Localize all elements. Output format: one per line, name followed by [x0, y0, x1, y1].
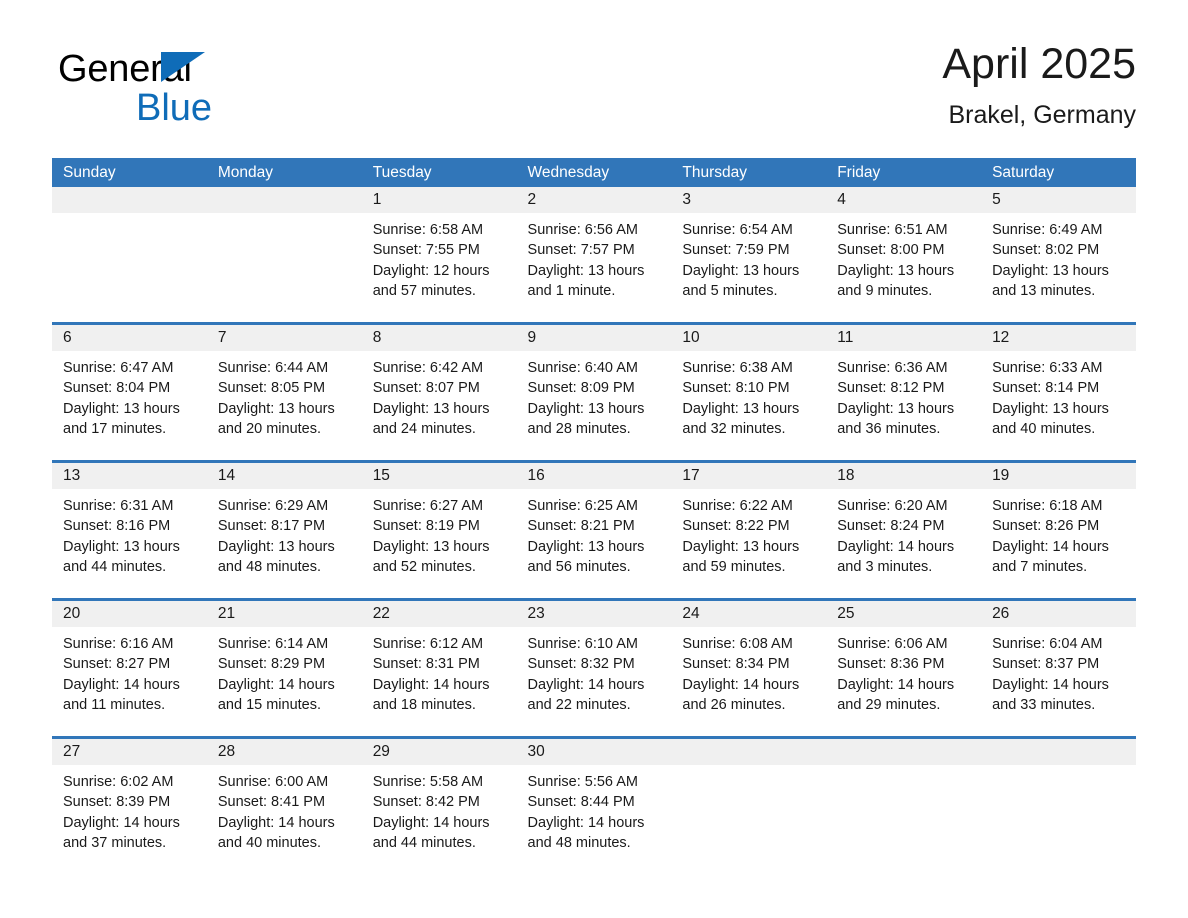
- sunrise-text: Sunrise: 6:12 AM: [373, 634, 506, 654]
- day-cell: 6Sunrise: 6:47 AMSunset: 8:04 PMDaylight…: [52, 325, 207, 460]
- sunrise-text: Sunrise: 6:04 AM: [992, 634, 1125, 654]
- sunrise-text: Sunrise: 6:58 AM: [373, 220, 506, 240]
- daylight-text-line1: Daylight: 14 hours: [528, 675, 661, 695]
- weekday-header-tuesday: Tuesday: [362, 158, 517, 187]
- sunrise-text: Sunrise: 6:38 AM: [682, 358, 815, 378]
- daylight-text-line2: and 29 minutes.: [837, 695, 970, 715]
- day-number: 25: [826, 601, 981, 627]
- sunrise-text: Sunrise: 6:54 AM: [682, 220, 815, 240]
- day-number: 1: [362, 187, 517, 213]
- daylight-text-line1: Daylight: 13 hours: [373, 537, 506, 557]
- calendar-day-cell[interactable]: 22Sunrise: 6:12 AMSunset: 8:31 PMDayligh…: [362, 601, 517, 736]
- sunrise-text: Sunrise: 6:44 AM: [218, 358, 351, 378]
- sunset-text: Sunset: 8:24 PM: [837, 516, 970, 536]
- day-info: Sunrise: 6:20 AMSunset: 8:24 PMDaylight:…: [826, 489, 981, 577]
- calendar-day-cell: [671, 739, 826, 859]
- day-number: 9: [517, 325, 672, 351]
- daylight-text-line2: and 3 minutes.: [837, 557, 970, 577]
- day-info: Sunrise: 6:06 AMSunset: 8:36 PMDaylight:…: [826, 627, 981, 715]
- sunset-text: Sunset: 8:16 PM: [63, 516, 196, 536]
- daylight-text-line2: and 17 minutes.: [63, 419, 196, 439]
- daylight-text-line1: Daylight: 14 hours: [218, 813, 351, 833]
- sunrise-text: Sunrise: 6:25 AM: [528, 496, 661, 516]
- day-info: Sunrise: 6:33 AMSunset: 8:14 PMDaylight:…: [981, 351, 1136, 439]
- sunrise-text: Sunrise: 6:42 AM: [373, 358, 506, 378]
- calendar-day-cell[interactable]: 8Sunrise: 6:42 AMSunset: 8:07 PMDaylight…: [362, 325, 517, 460]
- day-cell: 22Sunrise: 6:12 AMSunset: 8:31 PMDayligh…: [362, 601, 517, 736]
- day-info: Sunrise: 6:10 AMSunset: 8:32 PMDaylight:…: [517, 627, 672, 715]
- day-number: 6: [52, 325, 207, 351]
- daylight-text-line2: and 57 minutes.: [373, 281, 506, 301]
- daylight-text-line1: Daylight: 13 hours: [992, 261, 1125, 281]
- calendar-day-cell[interactable]: 25Sunrise: 6:06 AMSunset: 8:36 PMDayligh…: [826, 601, 981, 736]
- brand-triangle-icon: [161, 52, 205, 82]
- day-number: 5: [981, 187, 1136, 213]
- day-cell: 30Sunrise: 5:56 AMSunset: 8:44 PMDayligh…: [517, 739, 672, 859]
- daylight-text-line1: Daylight: 14 hours: [373, 675, 506, 695]
- sunrise-text: Sunrise: 6:51 AM: [837, 220, 970, 240]
- weekday-header-thursday: Thursday: [671, 158, 826, 187]
- day-info: Sunrise: 6:44 AMSunset: 8:05 PMDaylight:…: [207, 351, 362, 439]
- calendar-day-cell[interactable]: 20Sunrise: 6:16 AMSunset: 8:27 PMDayligh…: [52, 601, 207, 736]
- sunset-text: Sunset: 8:36 PM: [837, 654, 970, 674]
- sunset-text: Sunset: 8:00 PM: [837, 240, 970, 260]
- sunset-text: Sunset: 8:42 PM: [373, 792, 506, 812]
- weekday-header-friday: Friday: [826, 158, 981, 187]
- daylight-text-line1: Daylight: 14 hours: [528, 813, 661, 833]
- calendar-day-cell[interactable]: 7Sunrise: 6:44 AMSunset: 8:05 PMDaylight…: [207, 325, 362, 460]
- weekday-header-monday: Monday: [207, 158, 362, 187]
- daylight-text-line1: Daylight: 13 hours: [218, 537, 351, 557]
- day-number: [671, 739, 826, 765]
- calendar-week-row: 20Sunrise: 6:16 AMSunset: 8:27 PMDayligh…: [52, 601, 1136, 736]
- sunrise-text: Sunrise: 6:16 AM: [63, 634, 196, 654]
- daylight-text-line2: and 48 minutes.: [528, 833, 661, 853]
- sunrise-text: Sunrise: 6:40 AM: [528, 358, 661, 378]
- calendar-week-row: 6Sunrise: 6:47 AMSunset: 8:04 PMDaylight…: [52, 325, 1136, 460]
- daylight-text-line1: Daylight: 13 hours: [837, 399, 970, 419]
- day-number: 11: [826, 325, 981, 351]
- day-number: 19: [981, 463, 1136, 489]
- daylight-text-line2: and 26 minutes.: [682, 695, 815, 715]
- sunset-text: Sunset: 8:19 PM: [373, 516, 506, 536]
- day-info: Sunrise: 6:04 AMSunset: 8:37 PMDaylight:…: [981, 627, 1136, 715]
- weekday-header-sunday: Sunday: [52, 158, 207, 187]
- sunset-text: Sunset: 8:31 PM: [373, 654, 506, 674]
- sunrise-text: Sunrise: 6:14 AM: [218, 634, 351, 654]
- calendar-day-cell[interactable]: 6Sunrise: 6:47 AMSunset: 8:04 PMDaylight…: [52, 325, 207, 460]
- sunset-text: Sunset: 8:41 PM: [218, 792, 351, 812]
- daylight-text-line1: Daylight: 13 hours: [837, 261, 970, 281]
- calendar-page: General Blue April 2025 Brakel, Germany …: [0, 0, 1188, 918]
- calendar-day-cell: [981, 739, 1136, 859]
- day-cell: 11Sunrise: 6:36 AMSunset: 8:12 PMDayligh…: [826, 325, 981, 460]
- day-number: 20: [52, 601, 207, 627]
- sunrise-text: Sunrise: 6:47 AM: [63, 358, 196, 378]
- daylight-text-line2: and 56 minutes.: [528, 557, 661, 577]
- daylight-text-line2: and 32 minutes.: [682, 419, 815, 439]
- day-cell-empty: [52, 187, 207, 322]
- calendar-table: Sunday Monday Tuesday Wednesday Thursday…: [52, 158, 1136, 859]
- daylight-text-line1: Daylight: 13 hours: [528, 261, 661, 281]
- calendar-day-cell[interactable]: 10Sunrise: 6:38 AMSunset: 8:10 PMDayligh…: [671, 325, 826, 460]
- daylight-text-line2: and 13 minutes.: [992, 281, 1125, 301]
- calendar-day-cell: [826, 739, 981, 859]
- day-number: 2: [517, 187, 672, 213]
- calendar-day-cell[interactable]: 21Sunrise: 6:14 AMSunset: 8:29 PMDayligh…: [207, 601, 362, 736]
- brand-line-general: General: [58, 50, 358, 90]
- day-number: 10: [671, 325, 826, 351]
- day-number: [981, 739, 1136, 765]
- day-info: Sunrise: 6:56 AMSunset: 7:57 PMDaylight:…: [517, 213, 672, 301]
- sunset-text: Sunset: 7:59 PM: [682, 240, 815, 260]
- day-number: 7: [207, 325, 362, 351]
- day-number: 26: [981, 601, 1136, 627]
- calendar-day-cell[interactable]: 12Sunrise: 6:33 AMSunset: 8:14 PMDayligh…: [981, 325, 1136, 460]
- weekday-header-saturday: Saturday: [981, 158, 1136, 187]
- day-number: 16: [517, 463, 672, 489]
- calendar-week-row: 27Sunrise: 6:02 AMSunset: 8:39 PMDayligh…: [52, 739, 1136, 859]
- day-cell: 9Sunrise: 6:40 AMSunset: 8:09 PMDaylight…: [517, 325, 672, 460]
- calendar-day-cell[interactable]: 1Sunrise: 6:58 AMSunset: 7:55 PMDaylight…: [362, 187, 517, 322]
- daylight-text-line2: and 40 minutes.: [218, 833, 351, 853]
- daylight-text-line2: and 37 minutes.: [63, 833, 196, 853]
- day-cell: 21Sunrise: 6:14 AMSunset: 8:29 PMDayligh…: [207, 601, 362, 736]
- sunrise-text: Sunrise: 6:31 AM: [63, 496, 196, 516]
- day-number: 14: [207, 463, 362, 489]
- sunrise-text: Sunrise: 6:29 AM: [218, 496, 351, 516]
- daylight-text-line1: Daylight: 13 hours: [63, 537, 196, 557]
- day-number: 28: [207, 739, 362, 765]
- daylight-text-line1: Daylight: 12 hours: [373, 261, 506, 281]
- day-info: Sunrise: 6:02 AMSunset: 8:39 PMDaylight:…: [52, 765, 207, 853]
- daylight-text-line1: Daylight: 13 hours: [528, 399, 661, 419]
- sunrise-text: Sunrise: 6:22 AM: [682, 496, 815, 516]
- sunset-text: Sunset: 8:14 PM: [992, 378, 1125, 398]
- sunrise-text: Sunrise: 5:58 AM: [373, 772, 506, 792]
- daylight-text-line2: and 52 minutes.: [373, 557, 506, 577]
- sunrise-text: Sunrise: 6:10 AM: [528, 634, 661, 654]
- day-cell: 18Sunrise: 6:20 AMSunset: 8:24 PMDayligh…: [826, 463, 981, 598]
- day-info: Sunrise: 6:47 AMSunset: 8:04 PMDaylight:…: [52, 351, 207, 439]
- day-cell: 19Sunrise: 6:18 AMSunset: 8:26 PMDayligh…: [981, 463, 1136, 598]
- sunset-text: Sunset: 8:29 PM: [218, 654, 351, 674]
- day-number: 23: [517, 601, 672, 627]
- day-info: Sunrise: 6:18 AMSunset: 8:26 PMDaylight:…: [981, 489, 1136, 577]
- day-number: 18: [826, 463, 981, 489]
- day-number: [207, 187, 362, 213]
- calendar-day-cell[interactable]: 27Sunrise: 6:02 AMSunset: 8:39 PMDayligh…: [52, 739, 207, 859]
- daylight-text-line2: and 48 minutes.: [218, 557, 351, 577]
- day-cell: 1Sunrise: 6:58 AMSunset: 7:55 PMDaylight…: [362, 187, 517, 322]
- day-info: Sunrise: 6:54 AMSunset: 7:59 PMDaylight:…: [671, 213, 826, 301]
- sunset-text: Sunset: 8:26 PM: [992, 516, 1125, 536]
- day-cell: 20Sunrise: 6:16 AMSunset: 8:27 PMDayligh…: [52, 601, 207, 736]
- day-cell: 10Sunrise: 6:38 AMSunset: 8:10 PMDayligh…: [671, 325, 826, 460]
- day-cell: 29Sunrise: 5:58 AMSunset: 8:42 PMDayligh…: [362, 739, 517, 859]
- title-block: April 2025 Brakel, Germany: [942, 38, 1136, 132]
- day-cell: 5Sunrise: 6:49 AMSunset: 8:02 PMDaylight…: [981, 187, 1136, 322]
- day-info: Sunrise: 6:12 AMSunset: 8:31 PMDaylight:…: [362, 627, 517, 715]
- day-cell: 17Sunrise: 6:22 AMSunset: 8:22 PMDayligh…: [671, 463, 826, 598]
- sunset-text: Sunset: 8:07 PM: [373, 378, 506, 398]
- day-info: Sunrise: 6:25 AMSunset: 8:21 PMDaylight:…: [517, 489, 672, 577]
- daylight-text-line2: and 44 minutes.: [373, 833, 506, 853]
- daylight-text-line2: and 11 minutes.: [63, 695, 196, 715]
- sunset-text: Sunset: 8:32 PM: [528, 654, 661, 674]
- day-cell-empty: [981, 739, 1136, 859]
- daylight-text-line1: Daylight: 13 hours: [682, 399, 815, 419]
- calendar-day-cell[interactable]: 5Sunrise: 6:49 AMSunset: 8:02 PMDaylight…: [981, 187, 1136, 322]
- day-number: 17: [671, 463, 826, 489]
- sunrise-text: Sunrise: 6:56 AM: [528, 220, 661, 240]
- day-number: 27: [52, 739, 207, 765]
- day-number: 21: [207, 601, 362, 627]
- sunset-text: Sunset: 8:02 PM: [992, 240, 1125, 260]
- daylight-text-line1: Daylight: 14 hours: [218, 675, 351, 695]
- sunset-text: Sunset: 8:44 PM: [528, 792, 661, 812]
- sunrise-text: Sunrise: 6:06 AM: [837, 634, 970, 654]
- sunset-text: Sunset: 8:27 PM: [63, 654, 196, 674]
- daylight-text-line2: and 24 minutes.: [373, 419, 506, 439]
- day-cell: 23Sunrise: 6:10 AMSunset: 8:32 PMDayligh…: [517, 601, 672, 736]
- sunset-text: Sunset: 8:04 PM: [63, 378, 196, 398]
- day-number: [826, 739, 981, 765]
- day-info: Sunrise: 6:36 AMSunset: 8:12 PMDaylight:…: [826, 351, 981, 439]
- day-cell-empty: [207, 187, 362, 322]
- day-number: 3: [671, 187, 826, 213]
- daylight-text-line1: Daylight: 13 hours: [682, 537, 815, 557]
- day-number: 22: [362, 601, 517, 627]
- daylight-text-line2: and 7 minutes.: [992, 557, 1125, 577]
- sunset-text: Sunset: 8:09 PM: [528, 378, 661, 398]
- daylight-text-line2: and 9 minutes.: [837, 281, 970, 301]
- daylight-text-line1: Daylight: 14 hours: [63, 813, 196, 833]
- calendar-day-cell[interactable]: 28Sunrise: 6:00 AMSunset: 8:41 PMDayligh…: [207, 739, 362, 859]
- weekday-header-row: Sunday Monday Tuesday Wednesday Thursday…: [52, 158, 1136, 187]
- daylight-text-line1: Daylight: 14 hours: [992, 675, 1125, 695]
- day-info: Sunrise: 6:14 AMSunset: 8:29 PMDaylight:…: [207, 627, 362, 715]
- daylight-text-line2: and 33 minutes.: [992, 695, 1125, 715]
- calendar-day-cell[interactable]: 23Sunrise: 6:10 AMSunset: 8:32 PMDayligh…: [517, 601, 672, 736]
- calendar-day-cell[interactable]: 17Sunrise: 6:22 AMSunset: 8:22 PMDayligh…: [671, 463, 826, 598]
- calendar-day-cell[interactable]: 18Sunrise: 6:20 AMSunset: 8:24 PMDayligh…: [826, 463, 981, 598]
- calendar-day-cell[interactable]: 26Sunrise: 6:04 AMSunset: 8:37 PMDayligh…: [981, 601, 1136, 736]
- sunset-text: Sunset: 8:22 PM: [682, 516, 815, 536]
- sunrise-text: Sunrise: 6:18 AM: [992, 496, 1125, 516]
- daylight-text-line1: Daylight: 13 hours: [992, 399, 1125, 419]
- sunrise-text: Sunrise: 6:49 AM: [992, 220, 1125, 240]
- day-cell-empty: [671, 739, 826, 859]
- day-number: 4: [826, 187, 981, 213]
- brand-word-blue: Blue: [136, 88, 212, 128]
- daylight-text-line1: Daylight: 13 hours: [218, 399, 351, 419]
- calendar-day-cell[interactable]: 24Sunrise: 6:08 AMSunset: 8:34 PMDayligh…: [671, 601, 826, 736]
- daylight-text-line2: and 44 minutes.: [63, 557, 196, 577]
- day-cell: 14Sunrise: 6:29 AMSunset: 8:17 PMDayligh…: [207, 463, 362, 598]
- sunset-text: Sunset: 8:05 PM: [218, 378, 351, 398]
- daylight-text-line1: Daylight: 14 hours: [682, 675, 815, 695]
- daylight-text-line1: Daylight: 13 hours: [373, 399, 506, 419]
- day-info: Sunrise: 6:00 AMSunset: 8:41 PMDaylight:…: [207, 765, 362, 853]
- day-cell: 24Sunrise: 6:08 AMSunset: 8:34 PMDayligh…: [671, 601, 826, 736]
- calendar-week-row: 13Sunrise: 6:31 AMSunset: 8:16 PMDayligh…: [52, 463, 1136, 598]
- calendar-day-cell[interactable]: 16Sunrise: 6:25 AMSunset: 8:21 PMDayligh…: [517, 463, 672, 598]
- day-info: Sunrise: 6:58 AMSunset: 7:55 PMDaylight:…: [362, 213, 517, 301]
- daylight-text-line2: and 36 minutes.: [837, 419, 970, 439]
- day-cell: 27Sunrise: 6:02 AMSunset: 8:39 PMDayligh…: [52, 739, 207, 859]
- daylight-text-line1: Daylight: 14 hours: [837, 537, 970, 557]
- calendar-week-row: 1Sunrise: 6:58 AMSunset: 7:55 PMDaylight…: [52, 187, 1136, 322]
- day-info: Sunrise: 6:42 AMSunset: 8:07 PMDaylight:…: [362, 351, 517, 439]
- calendar-day-cell[interactable]: 15Sunrise: 6:27 AMSunset: 8:19 PMDayligh…: [362, 463, 517, 598]
- day-cell: 12Sunrise: 6:33 AMSunset: 8:14 PMDayligh…: [981, 325, 1136, 460]
- sunrise-text: Sunrise: 6:27 AM: [373, 496, 506, 516]
- calendar-day-cell: [207, 187, 362, 322]
- sunrise-text: Sunrise: 6:36 AM: [837, 358, 970, 378]
- day-number: 13: [52, 463, 207, 489]
- day-number: 30: [517, 739, 672, 765]
- sunrise-text: Sunrise: 6:00 AM: [218, 772, 351, 792]
- daylight-text-line2: and 22 minutes.: [528, 695, 661, 715]
- day-cell: 26Sunrise: 6:04 AMSunset: 8:37 PMDayligh…: [981, 601, 1136, 736]
- day-number: 15: [362, 463, 517, 489]
- day-info: Sunrise: 6:29 AMSunset: 8:17 PMDaylight:…: [207, 489, 362, 577]
- sunrise-text: Sunrise: 6:08 AM: [682, 634, 815, 654]
- daylight-text-line2: and 59 minutes.: [682, 557, 815, 577]
- daylight-text-line1: Daylight: 13 hours: [63, 399, 196, 419]
- daylight-text-line1: Daylight: 14 hours: [63, 675, 196, 695]
- daylight-text-line1: Daylight: 14 hours: [373, 813, 506, 833]
- page-header: General Blue April 2025 Brakel, Germany: [52, 38, 1136, 148]
- day-number: 29: [362, 739, 517, 765]
- sunrise-text: Sunrise: 6:02 AM: [63, 772, 196, 792]
- calendar-day-cell[interactable]: 19Sunrise: 6:18 AMSunset: 8:26 PMDayligh…: [981, 463, 1136, 598]
- day-number: 12: [981, 325, 1136, 351]
- daylight-text-line1: Daylight: 14 hours: [992, 537, 1125, 557]
- day-cell: 13Sunrise: 6:31 AMSunset: 8:16 PMDayligh…: [52, 463, 207, 598]
- daylight-text-line2: and 15 minutes.: [218, 695, 351, 715]
- day-cell: 15Sunrise: 6:27 AMSunset: 8:19 PMDayligh…: [362, 463, 517, 598]
- calendar-day-cell[interactable]: 9Sunrise: 6:40 AMSunset: 8:09 PMDaylight…: [517, 325, 672, 460]
- sunset-text: Sunset: 8:10 PM: [682, 378, 815, 398]
- day-info: Sunrise: 6:08 AMSunset: 8:34 PMDaylight:…: [671, 627, 826, 715]
- location-subtitle: Brakel, Germany: [942, 98, 1136, 132]
- day-info: Sunrise: 6:40 AMSunset: 8:09 PMDaylight:…: [517, 351, 672, 439]
- day-info: Sunrise: 6:27 AMSunset: 8:19 PMDaylight:…: [362, 489, 517, 577]
- day-info: Sunrise: 6:51 AMSunset: 8:00 PMDaylight:…: [826, 213, 981, 301]
- sunset-text: Sunset: 8:39 PM: [63, 792, 196, 812]
- daylight-text-line1: Daylight: 13 hours: [682, 261, 815, 281]
- day-cell: 28Sunrise: 6:00 AMSunset: 8:41 PMDayligh…: [207, 739, 362, 859]
- calendar-day-cell[interactable]: 13Sunrise: 6:31 AMSunset: 8:16 PMDayligh…: [52, 463, 207, 598]
- day-cell: 3Sunrise: 6:54 AMSunset: 7:59 PMDaylight…: [671, 187, 826, 322]
- daylight-text-line2: and 18 minutes.: [373, 695, 506, 715]
- day-info: Sunrise: 6:31 AMSunset: 8:16 PMDaylight:…: [52, 489, 207, 577]
- calendar-day-cell[interactable]: 11Sunrise: 6:36 AMSunset: 8:12 PMDayligh…: [826, 325, 981, 460]
- day-cell: 25Sunrise: 6:06 AMSunset: 8:36 PMDayligh…: [826, 601, 981, 736]
- sunset-text: Sunset: 8:37 PM: [992, 654, 1125, 674]
- day-number: [52, 187, 207, 213]
- daylight-text-line1: Daylight: 13 hours: [528, 537, 661, 557]
- day-cell: 8Sunrise: 6:42 AMSunset: 8:07 PMDaylight…: [362, 325, 517, 460]
- sunset-text: Sunset: 7:55 PM: [373, 240, 506, 260]
- sunrise-text: Sunrise: 6:33 AM: [992, 358, 1125, 378]
- day-cell: 4Sunrise: 6:51 AMSunset: 8:00 PMDaylight…: [826, 187, 981, 322]
- daylight-text-line2: and 5 minutes.: [682, 281, 815, 301]
- daylight-text-line2: and 20 minutes.: [218, 419, 351, 439]
- calendar-day-cell[interactable]: 29Sunrise: 5:58 AMSunset: 8:42 PMDayligh…: [362, 739, 517, 859]
- day-info: Sunrise: 5:56 AMSunset: 8:44 PMDaylight:…: [517, 765, 672, 853]
- calendar-day-cell: [52, 187, 207, 322]
- daylight-text-line1: Daylight: 14 hours: [837, 675, 970, 695]
- day-cell: 2Sunrise: 6:56 AMSunset: 7:57 PMDaylight…: [517, 187, 672, 322]
- sunrise-text: Sunrise: 6:20 AM: [837, 496, 970, 516]
- page-title: April 2025: [942, 38, 1136, 90]
- sunset-text: Sunset: 8:21 PM: [528, 516, 661, 536]
- day-info: Sunrise: 6:22 AMSunset: 8:22 PMDaylight:…: [671, 489, 826, 577]
- day-number: 8: [362, 325, 517, 351]
- calendar-day-cell[interactable]: 30Sunrise: 5:56 AMSunset: 8:44 PMDayligh…: [517, 739, 672, 859]
- calendar-body: 1Sunrise: 6:58 AMSunset: 7:55 PMDaylight…: [52, 187, 1136, 859]
- brand-logo[interactable]: General Blue: [58, 50, 358, 140]
- day-info: Sunrise: 6:49 AMSunset: 8:02 PMDaylight:…: [981, 213, 1136, 301]
- day-info: Sunrise: 6:16 AMSunset: 8:27 PMDaylight:…: [52, 627, 207, 715]
- daylight-text-line2: and 1 minute.: [528, 281, 661, 301]
- day-cell: 16Sunrise: 6:25 AMSunset: 8:21 PMDayligh…: [517, 463, 672, 598]
- sunset-text: Sunset: 8:12 PM: [837, 378, 970, 398]
- sunset-text: Sunset: 8:17 PM: [218, 516, 351, 536]
- calendar-day-cell[interactable]: 4Sunrise: 6:51 AMSunset: 8:00 PMDaylight…: [826, 187, 981, 322]
- daylight-text-line2: and 28 minutes.: [528, 419, 661, 439]
- sunset-text: Sunset: 7:57 PM: [528, 240, 661, 260]
- day-cell: 7Sunrise: 6:44 AMSunset: 8:05 PMDaylight…: [207, 325, 362, 460]
- sunset-text: Sunset: 8:34 PM: [682, 654, 815, 674]
- calendar-day-cell[interactable]: 14Sunrise: 6:29 AMSunset: 8:17 PMDayligh…: [207, 463, 362, 598]
- calendar-day-cell[interactable]: 2Sunrise: 6:56 AMSunset: 7:57 PMDaylight…: [517, 187, 672, 322]
- day-number: 24: [671, 601, 826, 627]
- day-info: Sunrise: 5:58 AMSunset: 8:42 PMDaylight:…: [362, 765, 517, 853]
- day-info: Sunrise: 6:38 AMSunset: 8:10 PMDaylight:…: [671, 351, 826, 439]
- sunrise-text: Sunrise: 5:56 AM: [528, 772, 661, 792]
- day-cell-empty: [826, 739, 981, 859]
- calendar-day-cell[interactable]: 3Sunrise: 6:54 AMSunset: 7:59 PMDaylight…: [671, 187, 826, 322]
- daylight-text-line2: and 40 minutes.: [992, 419, 1125, 439]
- weekday-header-wednesday: Wednesday: [517, 158, 672, 187]
